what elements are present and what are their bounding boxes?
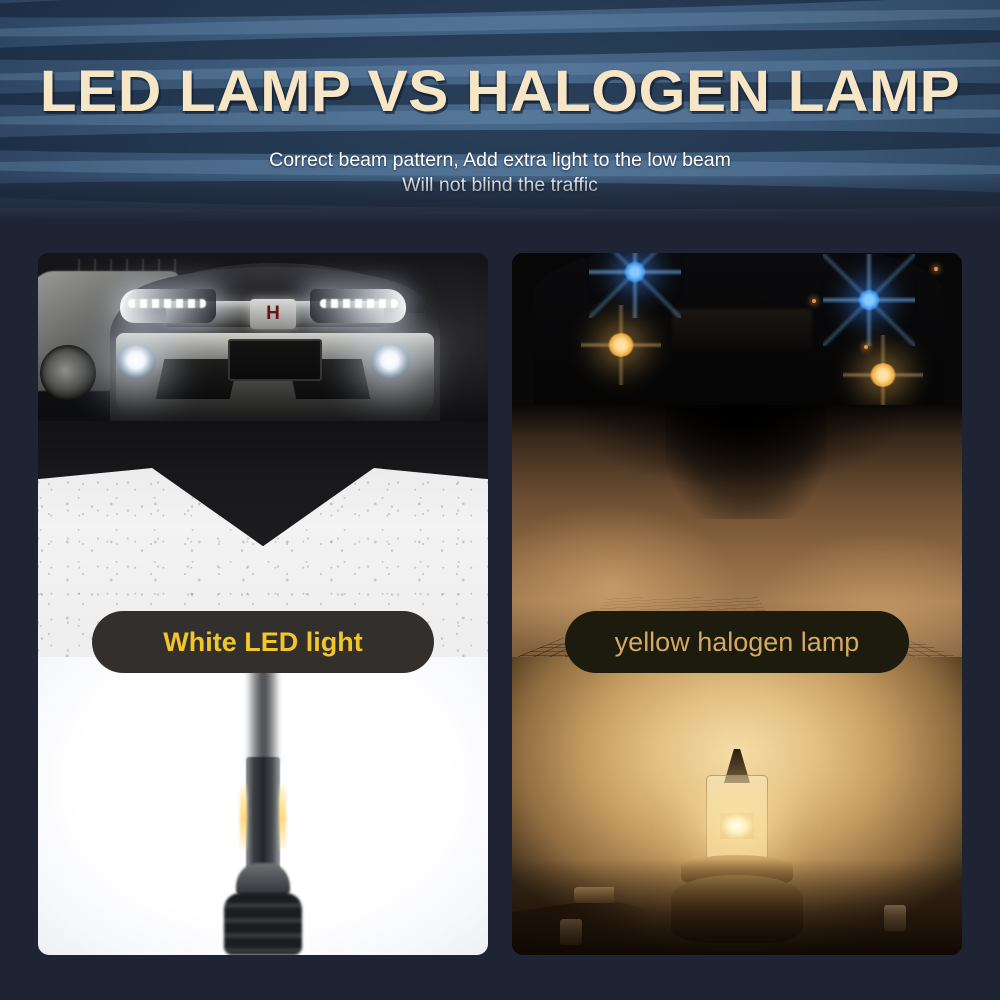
led-bulb-stem: [248, 657, 278, 765]
badge-yellow-halogen-lamp: yellow halogen lamp: [565, 611, 909, 673]
halogen-filament: [720, 813, 754, 839]
blue-light-left: [624, 261, 646, 283]
halogen-foglamp-right: [870, 363, 896, 387]
led-bulb-heatsink-base: [224, 893, 302, 955]
halogen-floor-shadow: [512, 859, 962, 955]
led-strip-left: [128, 299, 206, 308]
led-road-photo: H: [38, 253, 488, 657]
bumper-vent-left: [156, 359, 239, 399]
page-title: LED LAMP VS HALOGEN LAMP: [0, 58, 1000, 125]
led-chip-right: [279, 783, 286, 849]
comparison-panels: H: [38, 253, 962, 955]
led-bulb-photo: [38, 657, 488, 955]
background-light-dot-2: [864, 345, 868, 349]
background-light-dot-3: [934, 267, 938, 271]
car-shadow: [665, 405, 827, 519]
halogen-road-photo: [512, 253, 962, 657]
panel-halogen: yellow halogen lamp: [512, 253, 962, 955]
license-plate: [228, 339, 322, 381]
led-foglamp-right: [370, 345, 410, 379]
led-headlamp-right: [310, 289, 406, 323]
background-light-dot-1: [812, 299, 816, 303]
blue-light-right: [858, 289, 880, 311]
halogen-bulb-photo: [512, 657, 962, 955]
led-headlamp-left: [120, 289, 216, 323]
badge-white-led-light: White LED light: [92, 611, 434, 673]
led-strip-right: [320, 299, 398, 308]
led-chip-left: [240, 783, 247, 849]
led-bulb-neck: [236, 863, 290, 897]
page-header: LED LAMP VS HALOGEN LAMP Correct beam pa…: [0, 0, 1000, 222]
neighbour-car-wheel: [40, 345, 96, 401]
halogen-foglamp-left: [608, 333, 634, 357]
panel-led: H: [38, 253, 488, 955]
led-bulb-body: [246, 757, 280, 869]
honda-emblem: H: [250, 299, 296, 329]
led-foglamp-left: [116, 345, 156, 379]
dark-car-grille: [672, 309, 812, 351]
subtitle-line-1: Correct beam pattern, Add extra light to…: [269, 149, 731, 171]
header-fade-overlay: [0, 176, 1000, 222]
